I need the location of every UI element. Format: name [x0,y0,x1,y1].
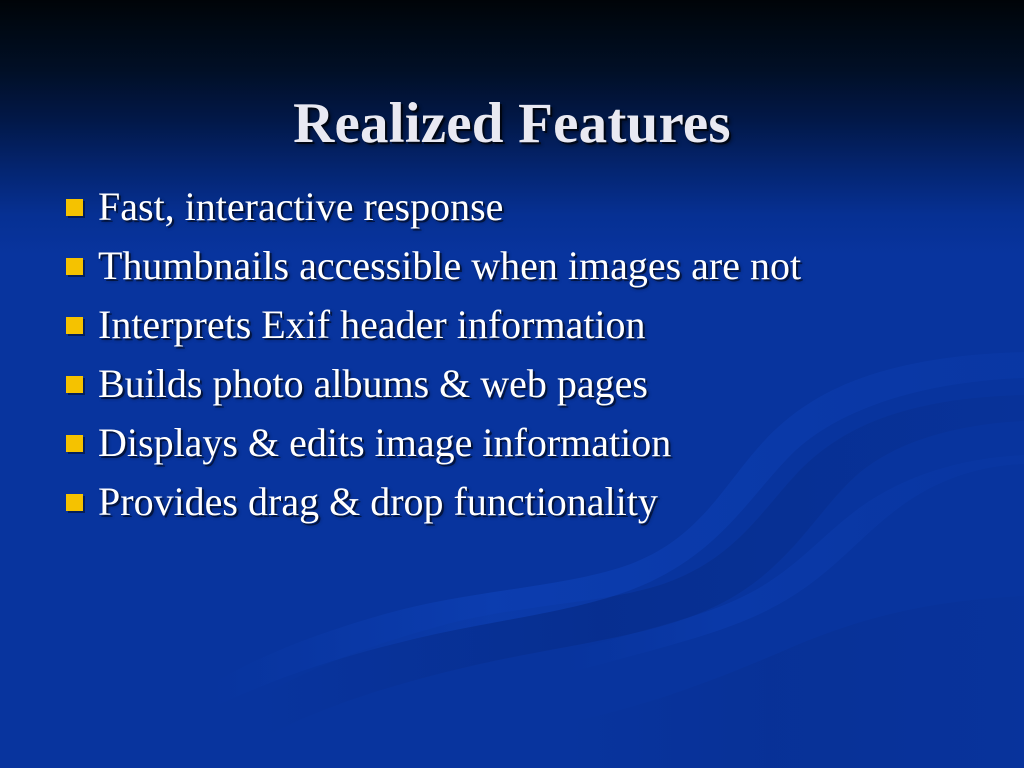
bullet-list-item: Builds photo albums & web pages [58,355,958,413]
title-placeholder: Realized Features [0,56,1024,192]
square-bullet-icon [66,494,83,511]
bullet-text: Builds photo albums & web pages [98,355,958,413]
bullet-text: Interprets Exif header information [98,296,958,354]
bullet-list-item: Fast, interactive response [58,178,958,236]
square-bullet-icon [66,258,83,275]
bullet-list-item: Displays & edits image information [58,414,958,472]
bullet-text: Provides drag & drop functionality [98,473,958,531]
square-bullet-icon [66,199,83,216]
bullet-list-item: Thumbnails accessible when images are no… [58,237,958,295]
square-bullet-icon [66,376,83,393]
slide-title: Realized Features [293,94,731,154]
square-bullet-icon [66,317,83,334]
square-bullet-icon [66,435,83,452]
bullet-text: Fast, interactive response [98,178,958,236]
bullet-list-item: Provides drag & drop functionality [58,473,958,531]
bullet-text: Thumbnails accessible when images are no… [98,237,958,295]
bullet-list-item: Interprets Exif header information [58,296,958,354]
content-placeholder: Fast, interactive response Thumbnails ac… [58,178,958,532]
presentation-slide: Realized Features Fast, interactive resp… [0,0,1024,768]
bullet-text: Displays & edits image information [98,414,958,472]
